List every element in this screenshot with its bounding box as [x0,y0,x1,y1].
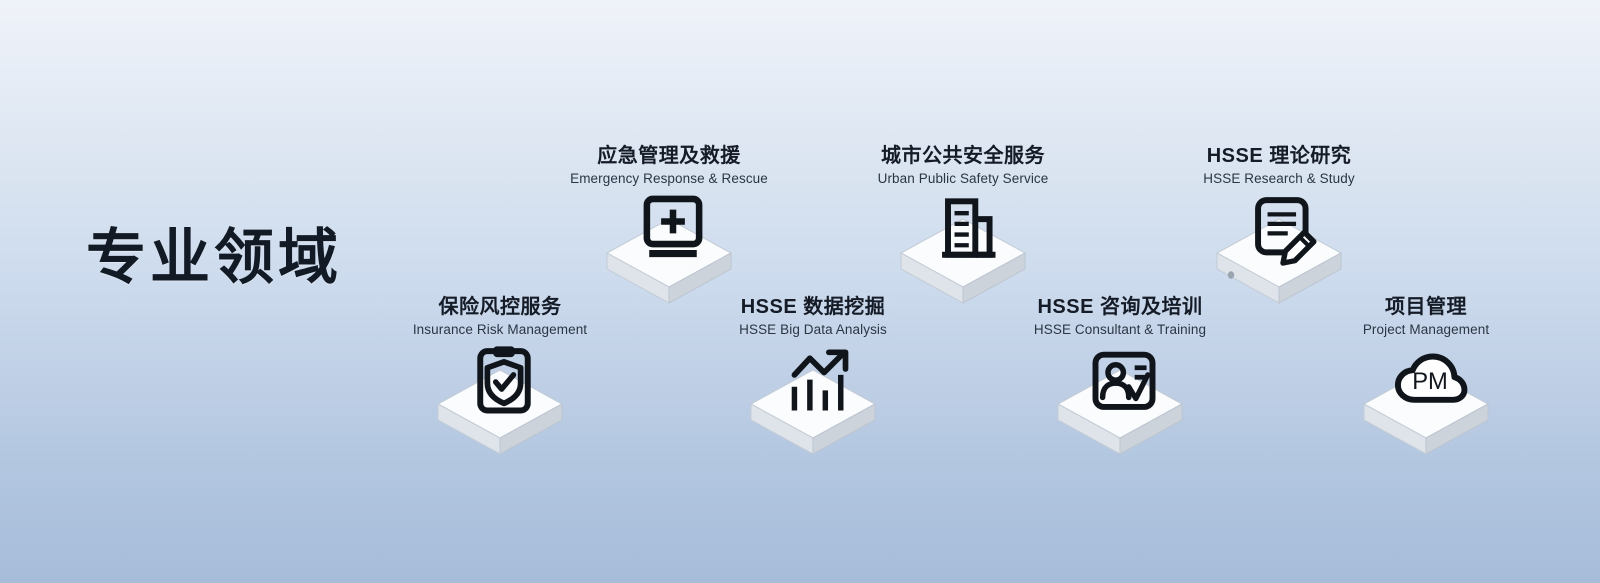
document-pencil-icon [1245,193,1321,269]
pedestal-wrap [990,344,1250,464]
domain-title-en: Project Management [1296,322,1556,338]
pedestal-wrap [539,193,799,313]
domain-item-urban[interactable]: 城市公共安全服务 Urban Public Safety Service [833,145,1093,313]
domain-title-cn: HSSE 数据挖掘 [683,296,943,318]
domain-title-cn: HSSE 理论研究 [1149,145,1409,167]
domain-item-bigdata[interactable]: HSSE 数据挖掘 HSSE Big Data Analysis [683,296,943,464]
domain-title-cn: 保险风控服务 [370,296,630,318]
bar-chart-trend-arrow-icon [779,344,855,420]
domain-title-cn: HSSE 咨询及培训 [990,296,1250,318]
clipboard-shield-check-icon [466,344,542,420]
domain-item-insurance[interactable]: 保险风控服务 Insurance Risk Management [370,296,630,464]
domain-title-cn: 应急管理及救援 [539,145,799,167]
first-aid-plus-icon [635,193,711,269]
pedestal-wrap [683,344,943,464]
pedestal-wrap [370,344,630,464]
domain-title-cn: 城市公共安全服务 [833,145,1093,167]
cloud-pm-icon: PM [1392,344,1468,420]
domain-title-en: Urban Public Safety Service [833,171,1093,187]
domain-title-en: HSSE Research & Study [1149,171,1409,187]
domain-title-cn: 项目管理 [1296,296,1556,318]
cloud-icon-label: PM [1412,368,1448,395]
id-card-person-check-icon [1086,344,1162,420]
professional-domains-banner: 专业领域 应急管理及救援 Emergency Response & Rescue [0,0,1600,583]
domain-item-research[interactable]: HSSE 理论研究 HSSE Research & Study [1149,145,1409,313]
pedestal-wrap: PM [1296,344,1556,464]
domain-item-consultant[interactable]: HSSE 咨询及培训 HSSE Consultant & Training [990,296,1250,464]
domain-title-en: Insurance Risk Management [370,322,630,338]
pedestal-wrap [833,193,1093,313]
domain-title-en: HSSE Consultant & Training [990,322,1250,338]
domain-title-en: Emergency Response & Rescue [539,171,799,187]
domain-item-project[interactable]: 项目管理 Project Management PM [1296,296,1556,464]
page-title: 专业领域 [86,228,342,288]
city-buildings-icon [929,193,1005,269]
domain-title-en: HSSE Big Data Analysis [683,322,943,338]
pedestal-wrap [1149,193,1409,313]
domain-item-emergency[interactable]: 应急管理及救援 Emergency Response & Rescue [539,145,799,313]
